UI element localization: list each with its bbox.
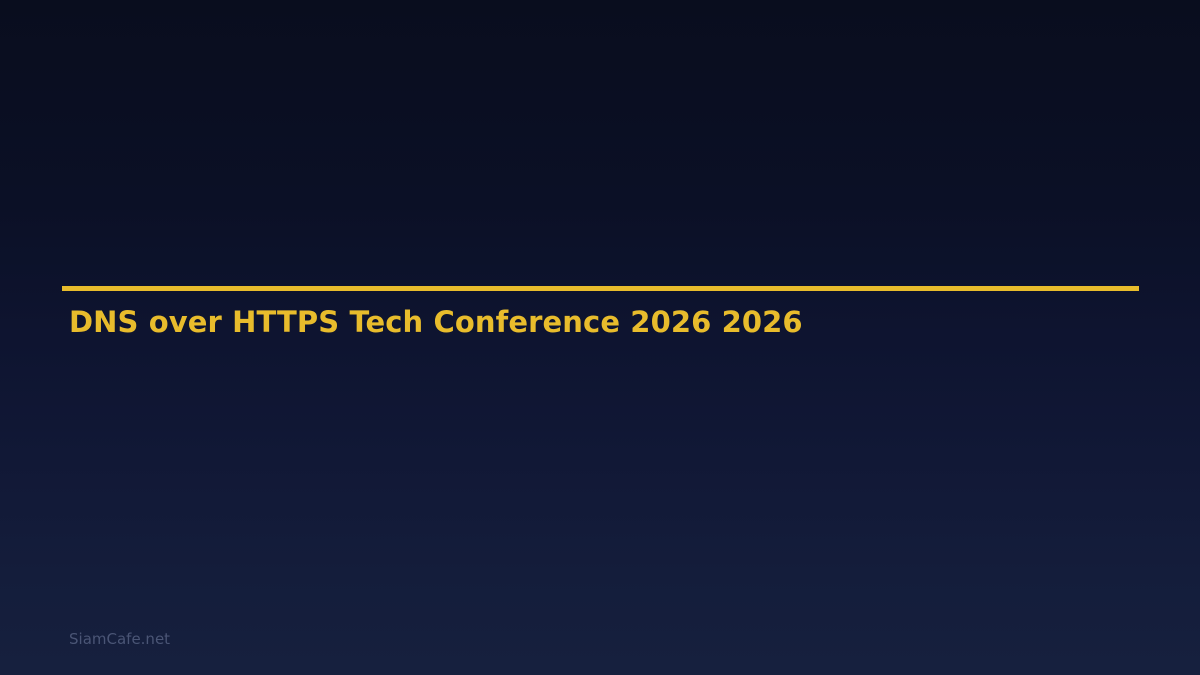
title-accent-rule [62,286,1139,291]
footer-brand-watermark: SiamCafe.net [69,630,170,650]
page-title: DNS over HTTPS Tech Conference 2026 2026 [69,305,1149,339]
slide-canvas: DNS over HTTPS Tech Conference 2026 2026… [0,0,1200,675]
